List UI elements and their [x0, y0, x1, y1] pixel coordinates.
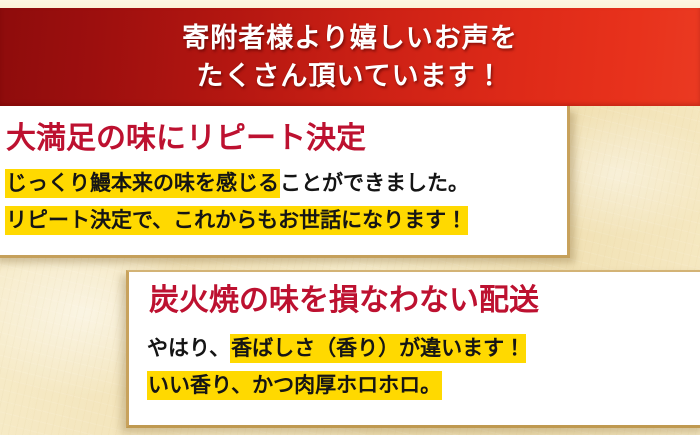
header-title-line-2: たくさん頂いています！: [0, 58, 700, 96]
header-title-line-1: 寄附者様より嬉しいお声を: [0, 20, 700, 58]
highlighted-text: リピート決定で、これからもお世話になります！: [5, 206, 468, 235]
header-red-band: 寄附者様より嬉しいお声を たくさん頂いています！: [0, 8, 700, 106]
testimonial-card-two: 炭火焼の味を損なわない配送 やはり、香ばしさ（香り）が違います！ いい香り、かつ…: [126, 270, 700, 428]
testimonial-two-line-1: やはり、香ばしさ（香り）が違います！: [147, 334, 526, 362]
testimonial-card-one: 大満足の味にリピート決定 じっくり鰻本来の味を感じることができました。 リピート…: [0, 106, 570, 258]
testimonial-two-line-2: いい香り、かつ肉厚ホロホロ。: [147, 371, 442, 399]
promo-banner: 寄附者様より嬉しいお声を たくさん頂いています！ 大満足の味にリピート決定 じっ…: [0, 0, 700, 435]
top-cream-strip: [0, 0, 700, 8]
highlighted-text: 香ばしさ（香り）が違います！: [230, 334, 526, 363]
header-title: 寄附者様より嬉しいお声を たくさん頂いています！: [0, 20, 700, 96]
highlighted-text: いい香り、かつ肉厚ホロホロ。: [147, 371, 442, 400]
testimonial-one-headline: 大満足の味にリピート決定: [6, 122, 366, 156]
highlighted-text: じっくり鰻本来の味を感じる: [5, 169, 280, 198]
plain-text: やはり、: [147, 334, 230, 363]
plain-text: ことができました。: [280, 169, 469, 198]
testimonial-one-line-1: じっくり鰻本来の味を感じることができました。: [5, 169, 469, 197]
testimonial-one-line-2: リピート決定で、これからもお世話になります！: [5, 206, 468, 234]
testimonial-two-headline: 炭火焼の味を損なわない配送: [149, 284, 539, 318]
